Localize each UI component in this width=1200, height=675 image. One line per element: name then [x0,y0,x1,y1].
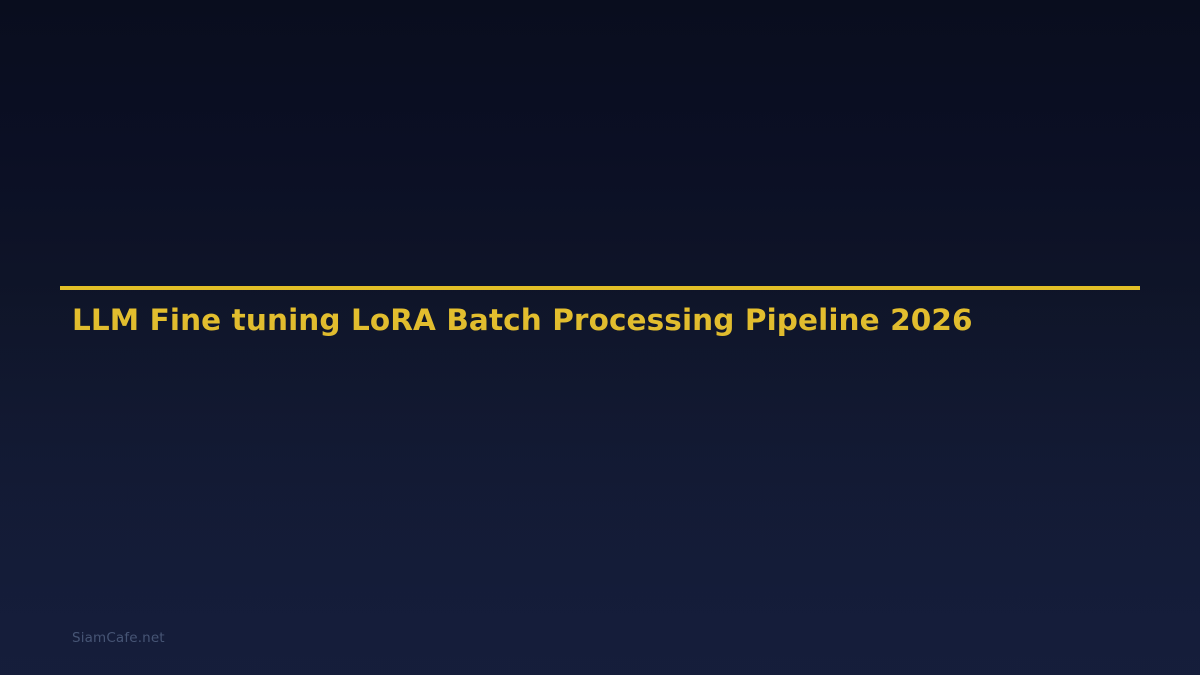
title-block: LLM Fine tuning LoRA Batch Processing Pi… [60,286,1140,290]
presentation-slide: LLM Fine tuning LoRA Batch Processing Pi… [0,0,1200,675]
accent-bar [60,286,1140,290]
page-title: LLM Fine tuning LoRA Batch Processing Pi… [72,302,973,339]
footer-brand: SiamCafe.net [72,630,165,646]
